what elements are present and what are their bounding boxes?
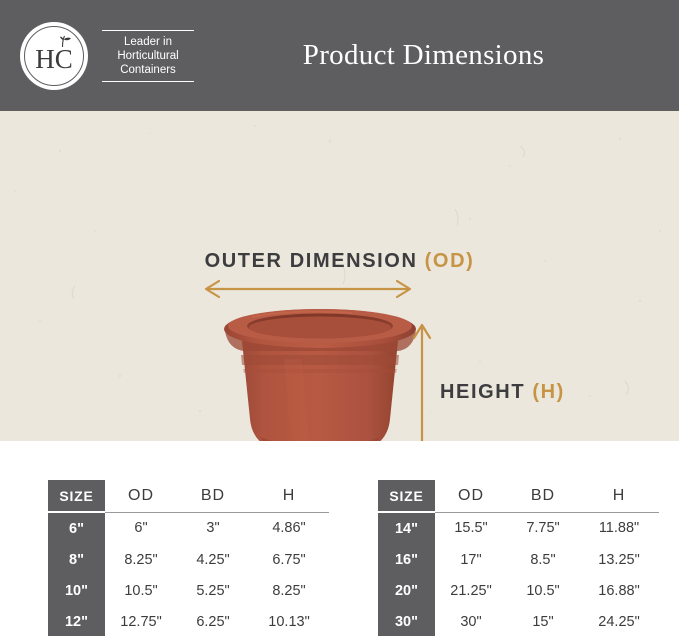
cell-size: 12"	[48, 606, 105, 636]
cell-size: 16"	[378, 544, 435, 575]
outer-dimension-arrow	[200, 279, 416, 299]
cell-h: 13.25"	[579, 544, 659, 575]
cell-bd: 7.75"	[507, 512, 579, 544]
cell-size: 14"	[378, 512, 435, 544]
page-title: Product Dimensions	[0, 0, 679, 111]
header-bar: HC Leader in Horticultural Containers Pr…	[0, 0, 679, 111]
column-header-bd: BD	[507, 480, 579, 512]
height-label: HEIGHT (H)	[440, 381, 565, 404]
cell-size: 20"	[378, 575, 435, 606]
table-row: 14" 15.5" 7.75" 11.88"	[378, 512, 659, 544]
cell-bd: 3"	[177, 512, 249, 544]
table-row: 8" 8.25" 4.25" 6.75"	[48, 544, 329, 575]
dimensions-table-large: SIZE OD BD H 14" 15.5" 7.75" 11.88" 16" …	[378, 480, 659, 636]
column-header-h: H	[579, 480, 659, 512]
cell-bd: 15"	[507, 606, 579, 636]
column-header-od: OD	[105, 480, 177, 512]
table-row: 16" 17" 8.5" 13.25"	[378, 544, 659, 575]
terracotta-planter-pot	[222, 307, 418, 441]
cell-bd: 8.5"	[507, 544, 579, 575]
height-arrow	[412, 319, 432, 441]
cell-od: 12.75"	[105, 606, 177, 636]
cell-size: 6"	[48, 512, 105, 544]
cell-h: 11.88"	[579, 512, 659, 544]
cell-h: 4.86"	[249, 512, 329, 544]
cell-h: 6.75"	[249, 544, 329, 575]
cell-bd: 10.5"	[507, 575, 579, 606]
height-code: (H)	[532, 381, 565, 403]
column-header-bd: BD	[177, 480, 249, 512]
table-row: 10" 10.5" 5.25" 8.25"	[48, 575, 329, 606]
column-header-od: OD	[435, 480, 507, 512]
table-small: SIZE OD BD H 6" 6" 3" 4.86" 8" 8.25" 4.2…	[48, 480, 329, 636]
outer-dimension-label: OUTER DIMENSION (OD)	[0, 250, 679, 273]
table-header-row: SIZE OD BD H	[48, 480, 329, 512]
cell-h: 16.88"	[579, 575, 659, 606]
table-header-row: SIZE OD BD H	[378, 480, 659, 512]
cell-od: 17"	[435, 544, 507, 575]
cell-od: 6"	[105, 512, 177, 544]
cell-od: 8.25"	[105, 544, 177, 575]
cell-size: 30"	[378, 606, 435, 636]
table-large: SIZE OD BD H 14" 15.5" 7.75" 11.88" 16" …	[378, 480, 659, 636]
column-header-size: SIZE	[48, 480, 105, 512]
cell-bd: 5.25"	[177, 575, 249, 606]
column-header-h: H	[249, 480, 329, 512]
cell-h: 24.25"	[579, 606, 659, 636]
product-dimensions-infographic: HC Leader in Horticultural Containers Pr…	[0, 0, 679, 636]
cell-od: 30"	[435, 606, 507, 636]
cell-size: 10"	[48, 575, 105, 606]
cell-bd: 4.25"	[177, 544, 249, 575]
cell-od: 21.25"	[435, 575, 507, 606]
outer-dimension-text: OUTER DIMENSION	[205, 250, 418, 272]
table-row: 12" 12.75" 6.25" 10.13"	[48, 606, 329, 636]
cell-od: 15.5"	[435, 512, 507, 544]
dimensions-table-small: SIZE OD BD H 6" 6" 3" 4.86" 8" 8.25" 4.2…	[48, 480, 329, 636]
height-text: HEIGHT	[440, 381, 525, 403]
table-row: 20" 21.25" 10.5" 16.88"	[378, 575, 659, 606]
cell-size: 8"	[48, 544, 105, 575]
table-row: 30" 30" 15" 24.25"	[378, 606, 659, 636]
cell-h: 8.25"	[249, 575, 329, 606]
column-header-size: SIZE	[378, 480, 435, 512]
cell-bd: 6.25"	[177, 606, 249, 636]
diagram-panel: OUTER DIMENSION (OD) BASE DIMENSION (BD)	[0, 111, 679, 441]
outer-dimension-code: (OD)	[425, 250, 475, 272]
cell-h: 10.13"	[249, 606, 329, 636]
cell-od: 10.5"	[105, 575, 177, 606]
table-row: 6" 6" 3" 4.86"	[48, 512, 329, 544]
